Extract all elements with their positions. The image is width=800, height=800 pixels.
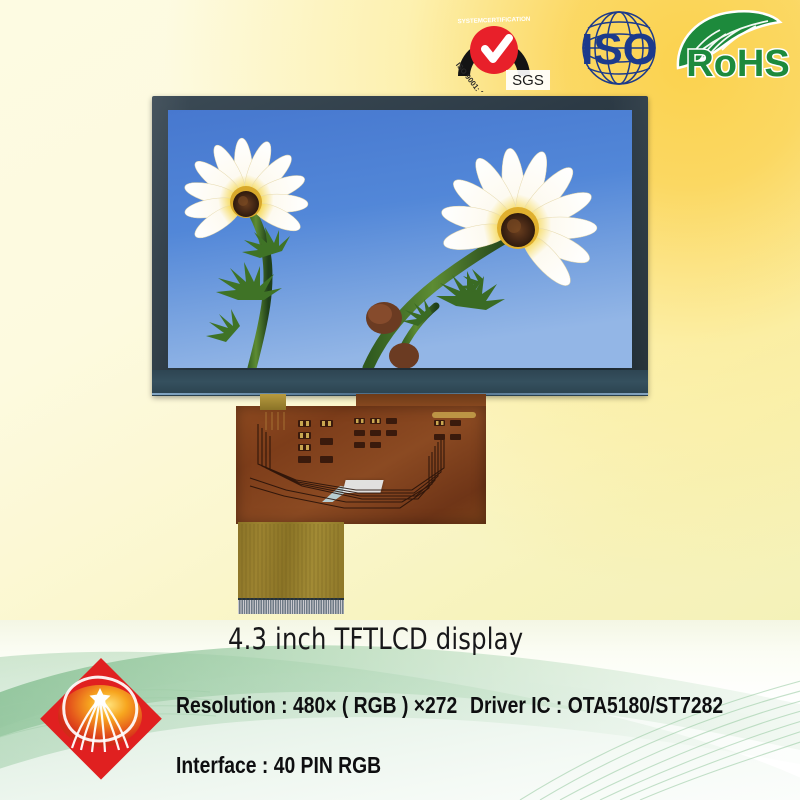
sgs-brand-text: SGS	[512, 72, 544, 89]
iso-brand-text: ISO	[581, 25, 657, 74]
page-title: 4.3 inch TFTLCD display	[228, 622, 523, 656]
tft-lcd-module	[152, 96, 648, 396]
rohs-brand-text: RoHS	[686, 43, 789, 85]
iso-globe-logo: ISO	[564, 4, 674, 92]
rohs-leaf-logo: RoHS	[670, 4, 798, 92]
product-image-canvas: SYSTEMCERTIFICATION ISO 9001: 2000 SGS I…	[0, 0, 800, 800]
lcd-screen	[168, 110, 632, 368]
sgs-arc-text: SYSTEMCERTIFICATION	[457, 16, 530, 26]
fpc-copper-traces	[236, 394, 486, 616]
spec-driver-ic: Driver IC : OTA5180/ST7282	[470, 692, 723, 719]
screen-flower-photo	[168, 110, 632, 368]
spec-resolution: Resolution : 480× ( RGB ) ×272	[176, 692, 457, 719]
lcd-bottom-frame	[152, 370, 648, 396]
fpc-flex-cable	[236, 394, 486, 616]
spec-interface: Interface : 40 PIN RGB	[176, 752, 381, 779]
sgs-iso9001-logo: SYSTEMCERTIFICATION ISO 9001: 2000 SGS	[448, 6, 556, 92]
company-diamond-logo	[36, 654, 166, 786]
certification-logo-group: SYSTEMCERTIFICATION ISO 9001: 2000 SGS I…	[448, 2, 798, 94]
